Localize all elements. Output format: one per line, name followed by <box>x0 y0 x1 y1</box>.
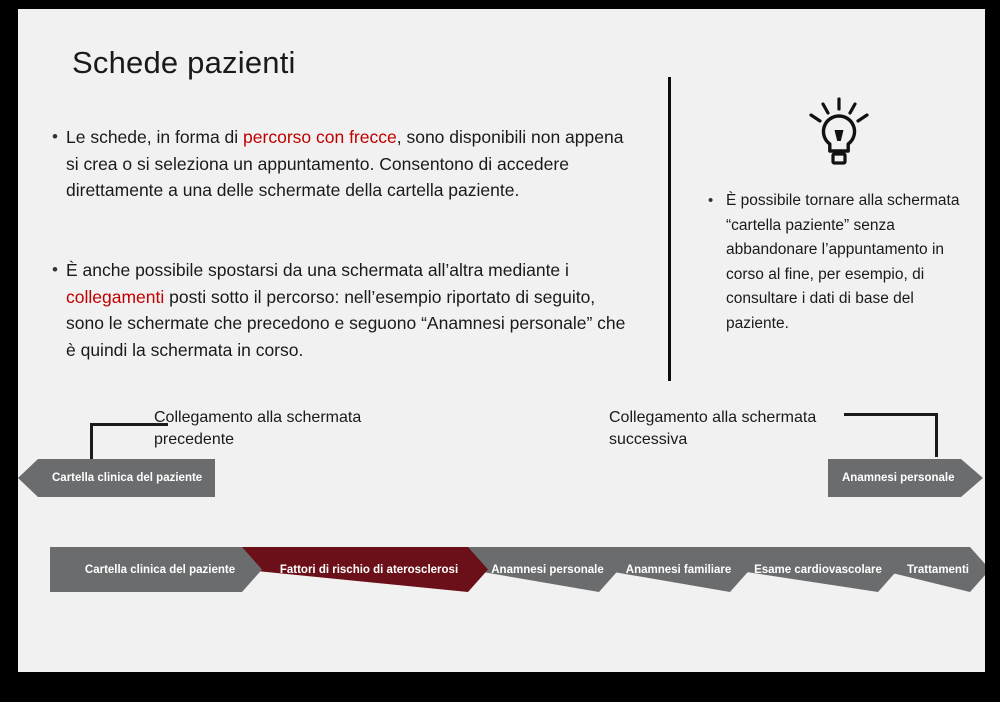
connector-horizontal-segment <box>844 413 938 416</box>
connector-line-next <box>844 413 938 457</box>
bullet-1-seg-0: Le schede, in forma di <box>66 127 243 147</box>
process-chevron-bar: Cartella clinica del pazienteFattori di … <box>50 547 985 592</box>
tip-panel-bullet: • È possibile tornare alla schermata “ca… <box>708 189 968 336</box>
lightbulb-icon <box>808 97 870 169</box>
connector-line-previous <box>72 423 168 461</box>
process-step-label: Trattamenti <box>893 564 975 576</box>
body-bullet-1: • Le schede, in forma di percorso con fr… <box>52 124 632 204</box>
tip-panel-text: È possibile tornare alla schermata “cart… <box>726 189 968 336</box>
process-step-5[interactable]: Esame cardiovascolare <box>730 547 898 592</box>
bullet-2-seg-1-highlight: collegamenti <box>66 287 164 307</box>
process-step-4[interactable]: Anamnesi familiare <box>599 547 750 592</box>
slide-canvas: Schede pazienti • Le schede, in forma di… <box>18 9 985 672</box>
bullet-marker: • <box>52 257 66 283</box>
process-step-label: Cartella clinica del paziente <box>71 564 241 576</box>
body-bullet-2: • È anche possibile spostarsi da una sch… <box>52 257 637 363</box>
bullet-marker: • <box>708 189 726 214</box>
link-chevron-next[interactable]: Anamnesi personale <box>828 459 983 497</box>
process-step-label: Anamnesi personale <box>477 564 609 576</box>
process-step-label: Anamnesi familiare <box>612 564 737 576</box>
connector-vertical-segment <box>90 423 93 461</box>
bullet-1-seg-1-highlight: percorso con frecce <box>243 127 397 147</box>
link-chevron-previous[interactable]: Cartella clinica del paziente <box>18 459 215 497</box>
panel-divider <box>668 77 671 381</box>
body-bullet-2-text: È anche possibile spostarsi da una scher… <box>66 257 637 363</box>
page-title: Schede pazienti <box>72 45 296 81</box>
process-step-label: Fattori di rischio di aterosclerosi <box>266 564 464 576</box>
bullet-marker: • <box>52 124 66 150</box>
link-chevron-next-label: Anamnesi personale <box>842 472 954 484</box>
link-chevron-previous-label: Cartella clinica del paziente <box>52 472 202 484</box>
connector-horizontal-segment <box>90 423 168 426</box>
process-step-3[interactable]: Anamnesi personale <box>468 547 619 592</box>
process-step-2[interactable]: Fattori di rischio di aterosclerosi <box>242 547 488 592</box>
slide-frame: Schede pazienti • Le schede, in forma di… <box>0 0 1000 702</box>
process-step-label: Esame cardiovascolare <box>740 564 888 576</box>
callout-previous-label: Collegamento alla schermata precedente <box>154 407 394 451</box>
bullet-2-seg-0: È anche possibile spostarsi da una scher… <box>66 260 569 280</box>
process-step-1[interactable]: Cartella clinica del paziente <box>50 547 262 592</box>
callout-next-label: Collegamento alla schermata successiva <box>609 407 839 451</box>
body-bullet-1-text: Le schede, in forma di percorso con frec… <box>66 124 632 204</box>
connector-vertical-segment <box>935 413 938 457</box>
